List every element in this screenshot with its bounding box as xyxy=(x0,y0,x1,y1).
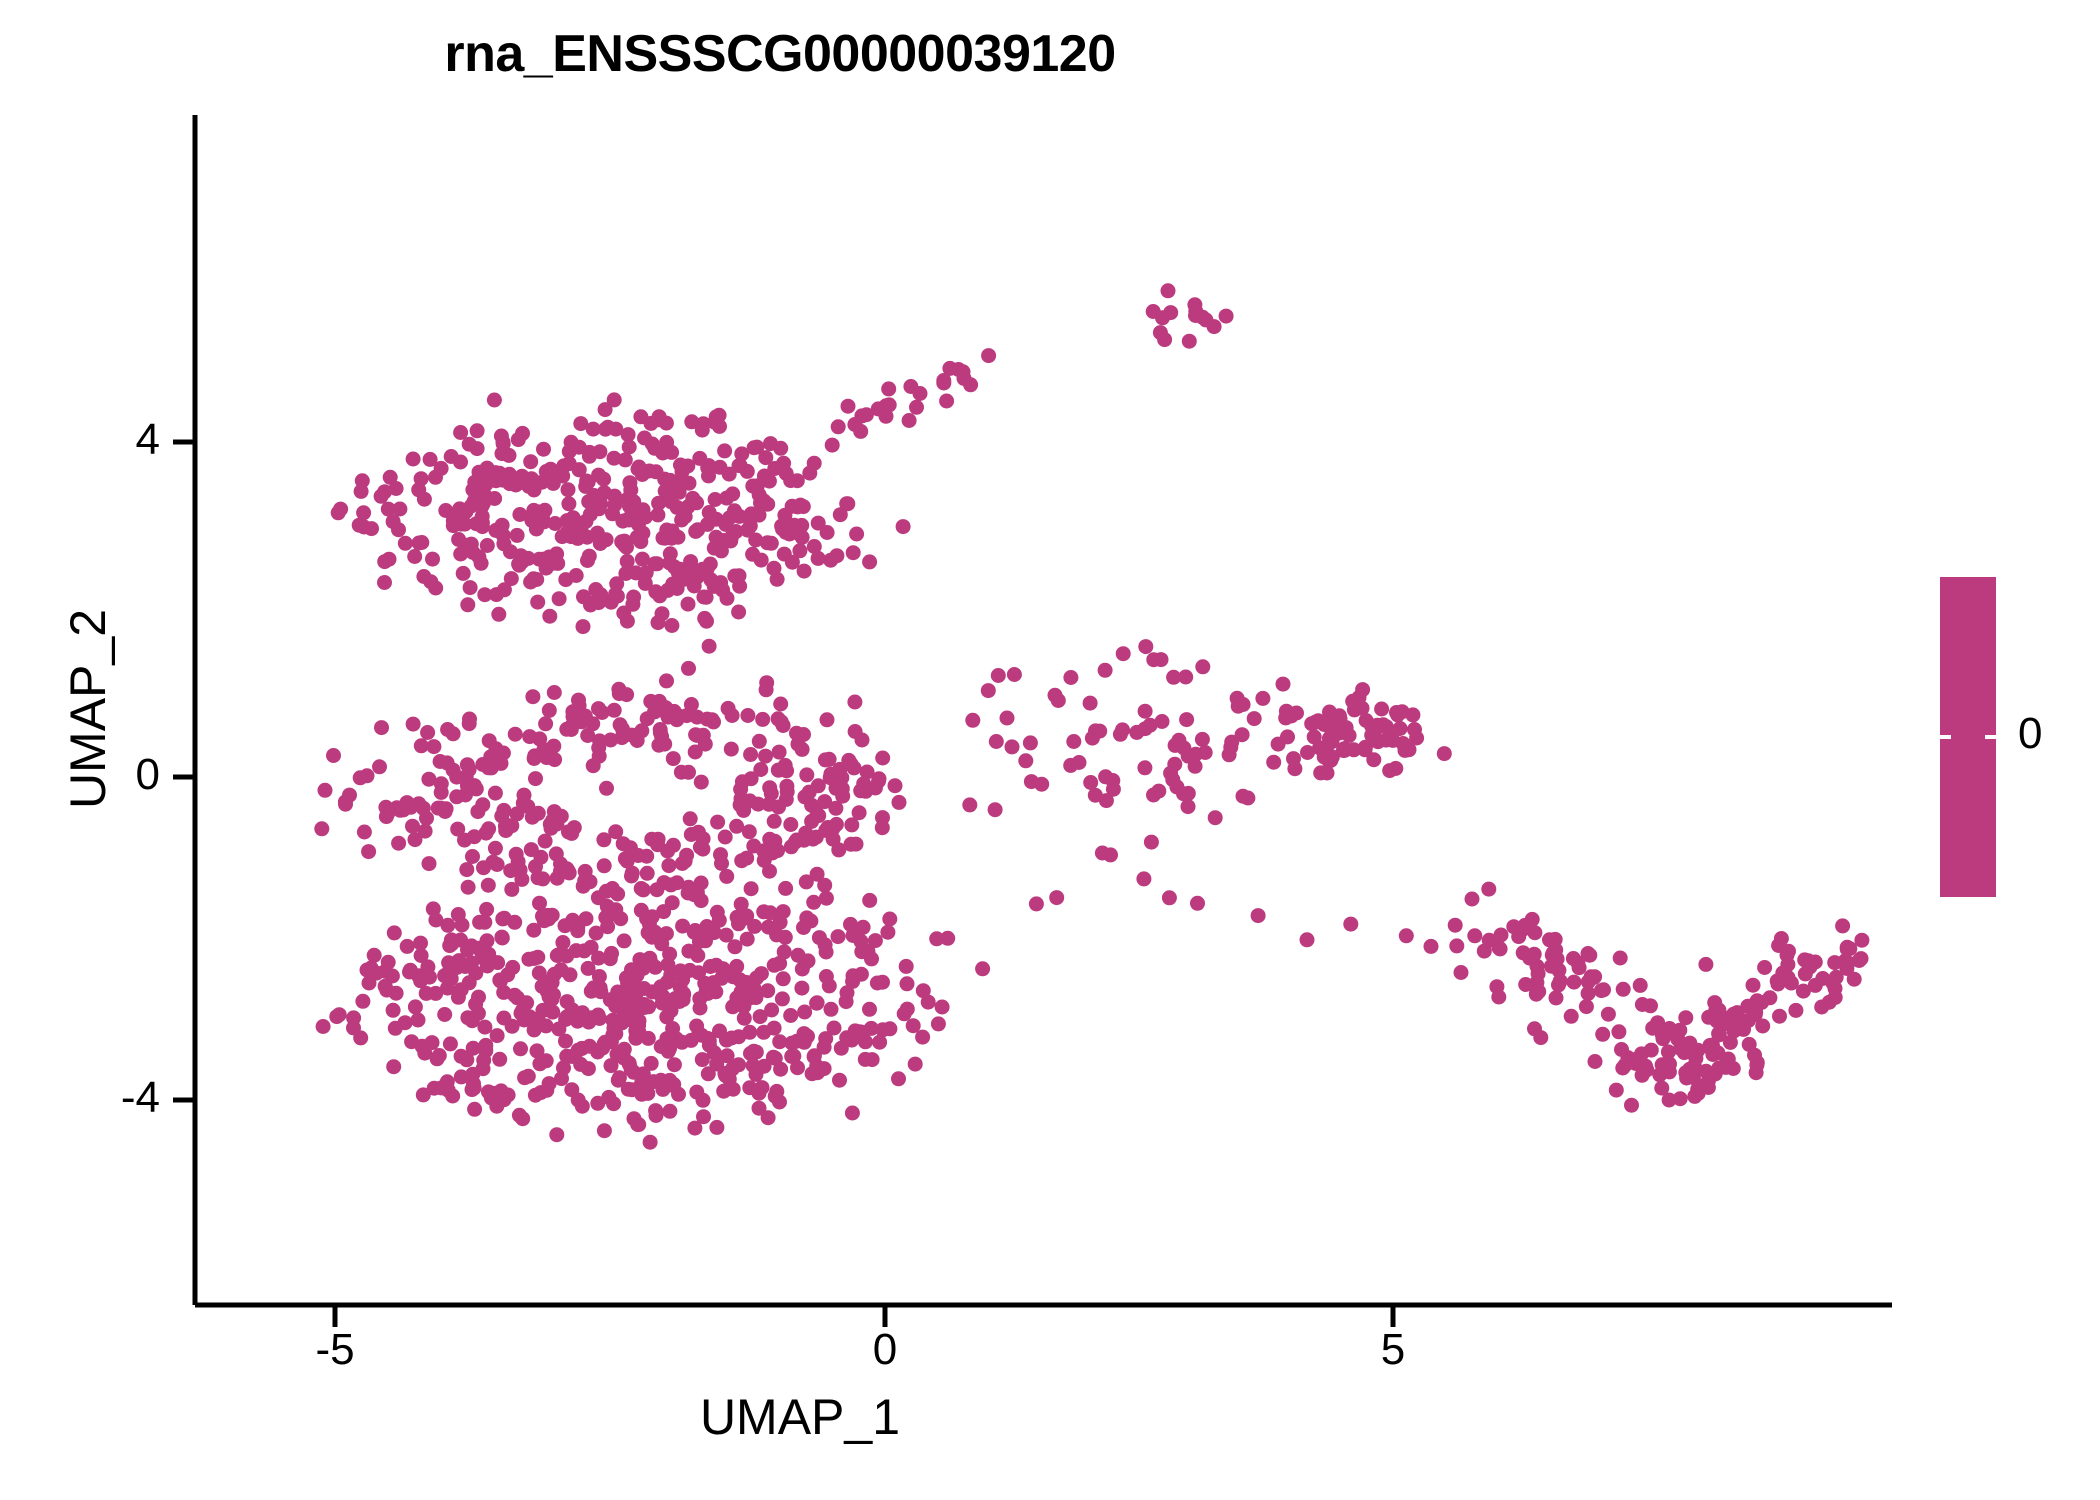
x-axis-title: UMAP_1 xyxy=(0,1388,1600,1446)
scatter-canvas xyxy=(0,0,2100,1500)
y-axis-title: UMAP_2 xyxy=(59,409,117,1009)
colorbar-gradient xyxy=(1940,577,1996,897)
x-tick-label-2: 5 xyxy=(1333,1325,1453,1375)
y-tick-label-2: -4 xyxy=(40,1073,160,1123)
umap-feature-plot: rna_ENSSSCG00000039120 -5 0 5 4 0 -4 UMA… xyxy=(0,0,2100,1500)
colorbar-tick-label: 0 xyxy=(2018,709,2042,759)
x-tick-label-0: -5 xyxy=(275,1325,395,1375)
scatter-points xyxy=(314,283,1869,1149)
x-tick-label-1: 0 xyxy=(825,1325,945,1375)
x-axis-ticks xyxy=(335,1305,1393,1327)
plot-panel: -5 0 5 4 0 -4 UMAP_1 UMAP_2 xyxy=(0,0,2100,1500)
y-axis-ticks xyxy=(173,442,195,1100)
